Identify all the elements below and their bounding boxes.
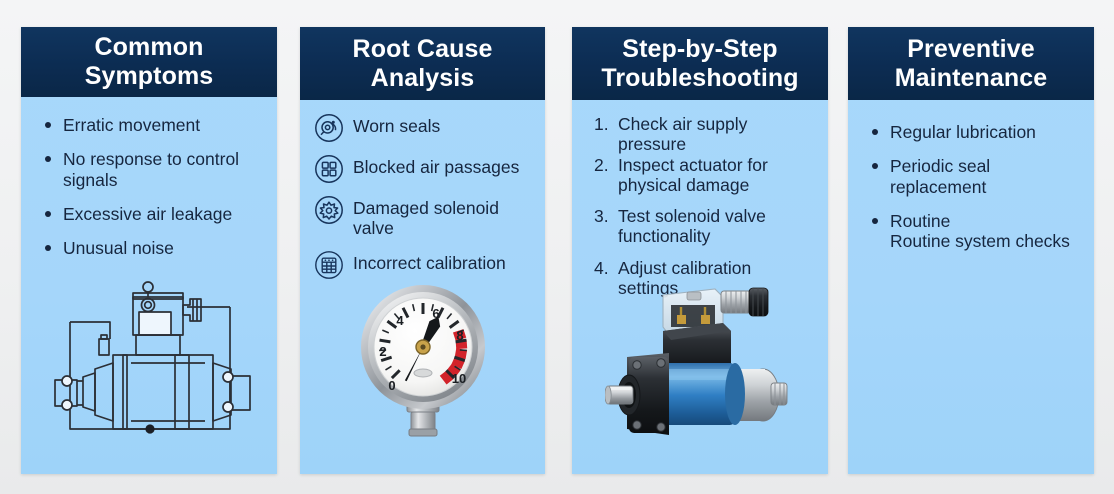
card-title: Common Symptoms bbox=[29, 33, 269, 91]
pressure-gauge: 0 2 4 6 8 10 bbox=[343, 277, 503, 454]
card-body-step-by-step-troubleshooting: 1. Check air supply pressure 2. Inspect … bbox=[572, 100, 828, 474]
list-item: 2. Inspect actuator for physical damage bbox=[594, 155, 816, 196]
gauge-tick-8: 8 bbox=[456, 328, 463, 343]
card-common-symptoms: Common Symptoms Erratic movement No resp… bbox=[21, 27, 277, 474]
list-item: No response to control signals bbox=[43, 149, 263, 190]
card-title: Root Cause Analysis bbox=[353, 35, 493, 93]
list-item: Unusual noise bbox=[43, 238, 263, 258]
card-header-root-cause-analysis: Root Cause Analysis bbox=[300, 27, 545, 100]
list-item: Blocked air passages bbox=[314, 153, 535, 184]
list-item-label: Blocked air passages bbox=[353, 153, 519, 177]
gear-burst-icon bbox=[314, 195, 344, 225]
gauge-tick-2: 2 bbox=[379, 344, 386, 359]
gauge-tick-10: 10 bbox=[451, 371, 465, 386]
calendar-grid-icon bbox=[314, 250, 344, 280]
pneumatic-actuator-line-diagram bbox=[47, 277, 253, 452]
list-item: Periodic seal replacement bbox=[870, 156, 1080, 197]
infographic-canvas: Common Symptoms Erratic movement No resp… bbox=[0, 0, 1114, 494]
root-cause-list: Worn seals Blocked air passages bbox=[300, 100, 545, 280]
seal-ring-icon bbox=[314, 113, 344, 143]
list-item: Excessive air leakage bbox=[43, 204, 263, 224]
list-item: Regular lubrication bbox=[870, 122, 1080, 142]
list-item-label: Worn seals bbox=[353, 112, 440, 136]
card-preventive-maintenance: Preventive Maintenance Regular lubricati… bbox=[848, 27, 1094, 474]
gauge-tick-0: 0 bbox=[388, 378, 395, 393]
list-item: 3. Test solenoid valve functionality bbox=[594, 206, 816, 247]
step-number: 1. bbox=[594, 114, 618, 155]
card-title: Preventive Maintenance bbox=[895, 35, 1048, 93]
card-body-root-cause-analysis: Worn seals Blocked air passages bbox=[300, 100, 545, 474]
step-text: Inspect actuator for physical damage bbox=[618, 155, 768, 196]
grid-blocks-icon bbox=[314, 154, 344, 184]
list-item-label: Incorrect calibration bbox=[353, 249, 506, 273]
list-item: Damaged solenoid valve bbox=[314, 194, 535, 239]
maintenance-list: Regular lubrication Periodic seal replac… bbox=[848, 100, 1094, 251]
card-step-by-step-troubleshooting: Step-by-Step Troubleshooting 1. Check ai… bbox=[572, 27, 828, 474]
list-item: 1. Check air supply pressure bbox=[594, 114, 816, 155]
list-item: Worn seals bbox=[314, 112, 535, 143]
card-header-common-symptoms: Common Symptoms bbox=[21, 27, 277, 97]
card-header-preventive-maintenance: Preventive Maintenance bbox=[848, 27, 1094, 100]
step-text: Test solenoid valve functionality bbox=[618, 206, 766, 247]
step-number: 3. bbox=[594, 206, 618, 247]
card-header-step-by-step-troubleshooting: Step-by-Step Troubleshooting bbox=[572, 27, 828, 100]
list-item: Erratic movement bbox=[43, 115, 263, 135]
list-item-label: Damaged solenoid valve bbox=[353, 194, 499, 239]
step-number: 2. bbox=[594, 155, 618, 196]
list-item: Routine Routine system checks bbox=[870, 211, 1080, 252]
troubleshooting-steps: 1. Check air supply pressure 2. Inspect … bbox=[572, 100, 828, 298]
card-body-preventive-maintenance: Regular lubrication Periodic seal replac… bbox=[848, 100, 1094, 474]
list-item: Incorrect calibration bbox=[314, 249, 535, 280]
step-text: Check air supply pressure bbox=[618, 114, 747, 155]
card-title: Step-by-Step Troubleshooting bbox=[601, 35, 798, 93]
symptom-list: Erratic movement No response to control … bbox=[21, 97, 277, 258]
card-root-cause-analysis: Root Cause Analysis Worn bbox=[300, 27, 545, 474]
solenoid-valve-photo bbox=[605, 285, 795, 450]
card-body-common-symptoms: Erratic movement No response to control … bbox=[21, 97, 277, 474]
gauge-tick-4: 4 bbox=[396, 313, 404, 328]
